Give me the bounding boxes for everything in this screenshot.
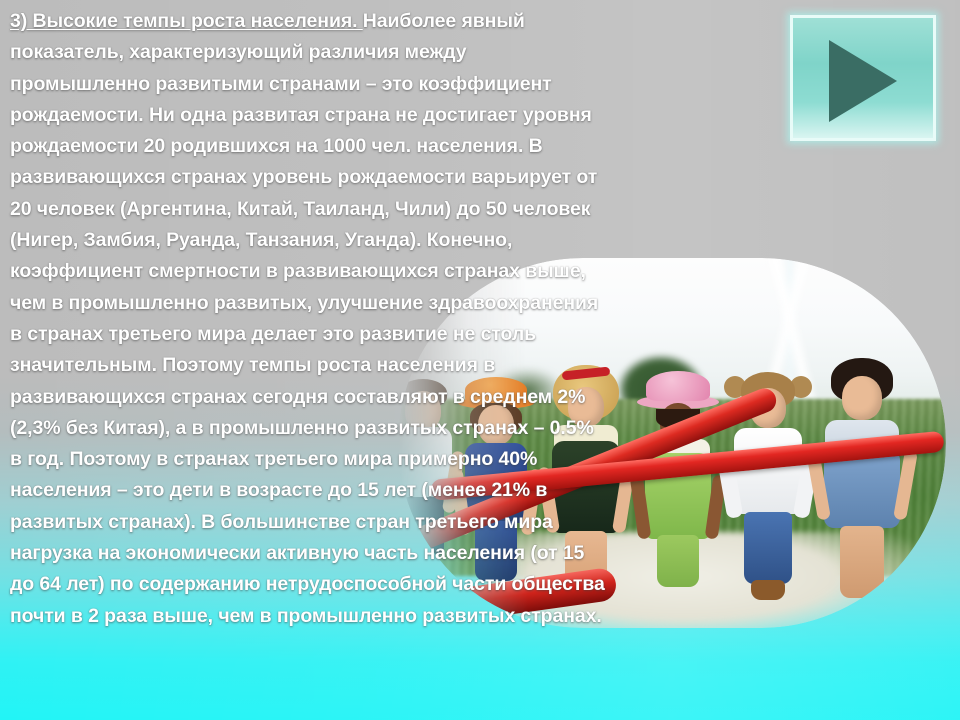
child-5-body: [734, 428, 802, 514]
child-4: [630, 369, 726, 595]
child-6: [810, 358, 914, 610]
child-4-legs: [657, 535, 699, 587]
child-5-legs: [744, 512, 792, 584]
play-button[interactable]: [790, 15, 936, 141]
slide-heading: 3) Высокие темпы роста населения.: [10, 10, 363, 32]
child-6-head: [842, 376, 882, 420]
child-4-hat: [646, 371, 710, 401]
play-icon: [829, 40, 897, 122]
slide-paragraph: Наиболее явный показатель, характеризующ…: [10, 10, 610, 627]
child-5-shoe: [751, 580, 785, 600]
presentation-slide: 3) Высокие темпы роста населения. Наибол…: [0, 0, 960, 720]
child-6-legs: [840, 526, 884, 598]
slide-body-text: 3) Высокие темпы роста населения. Наибол…: [10, 6, 610, 632]
